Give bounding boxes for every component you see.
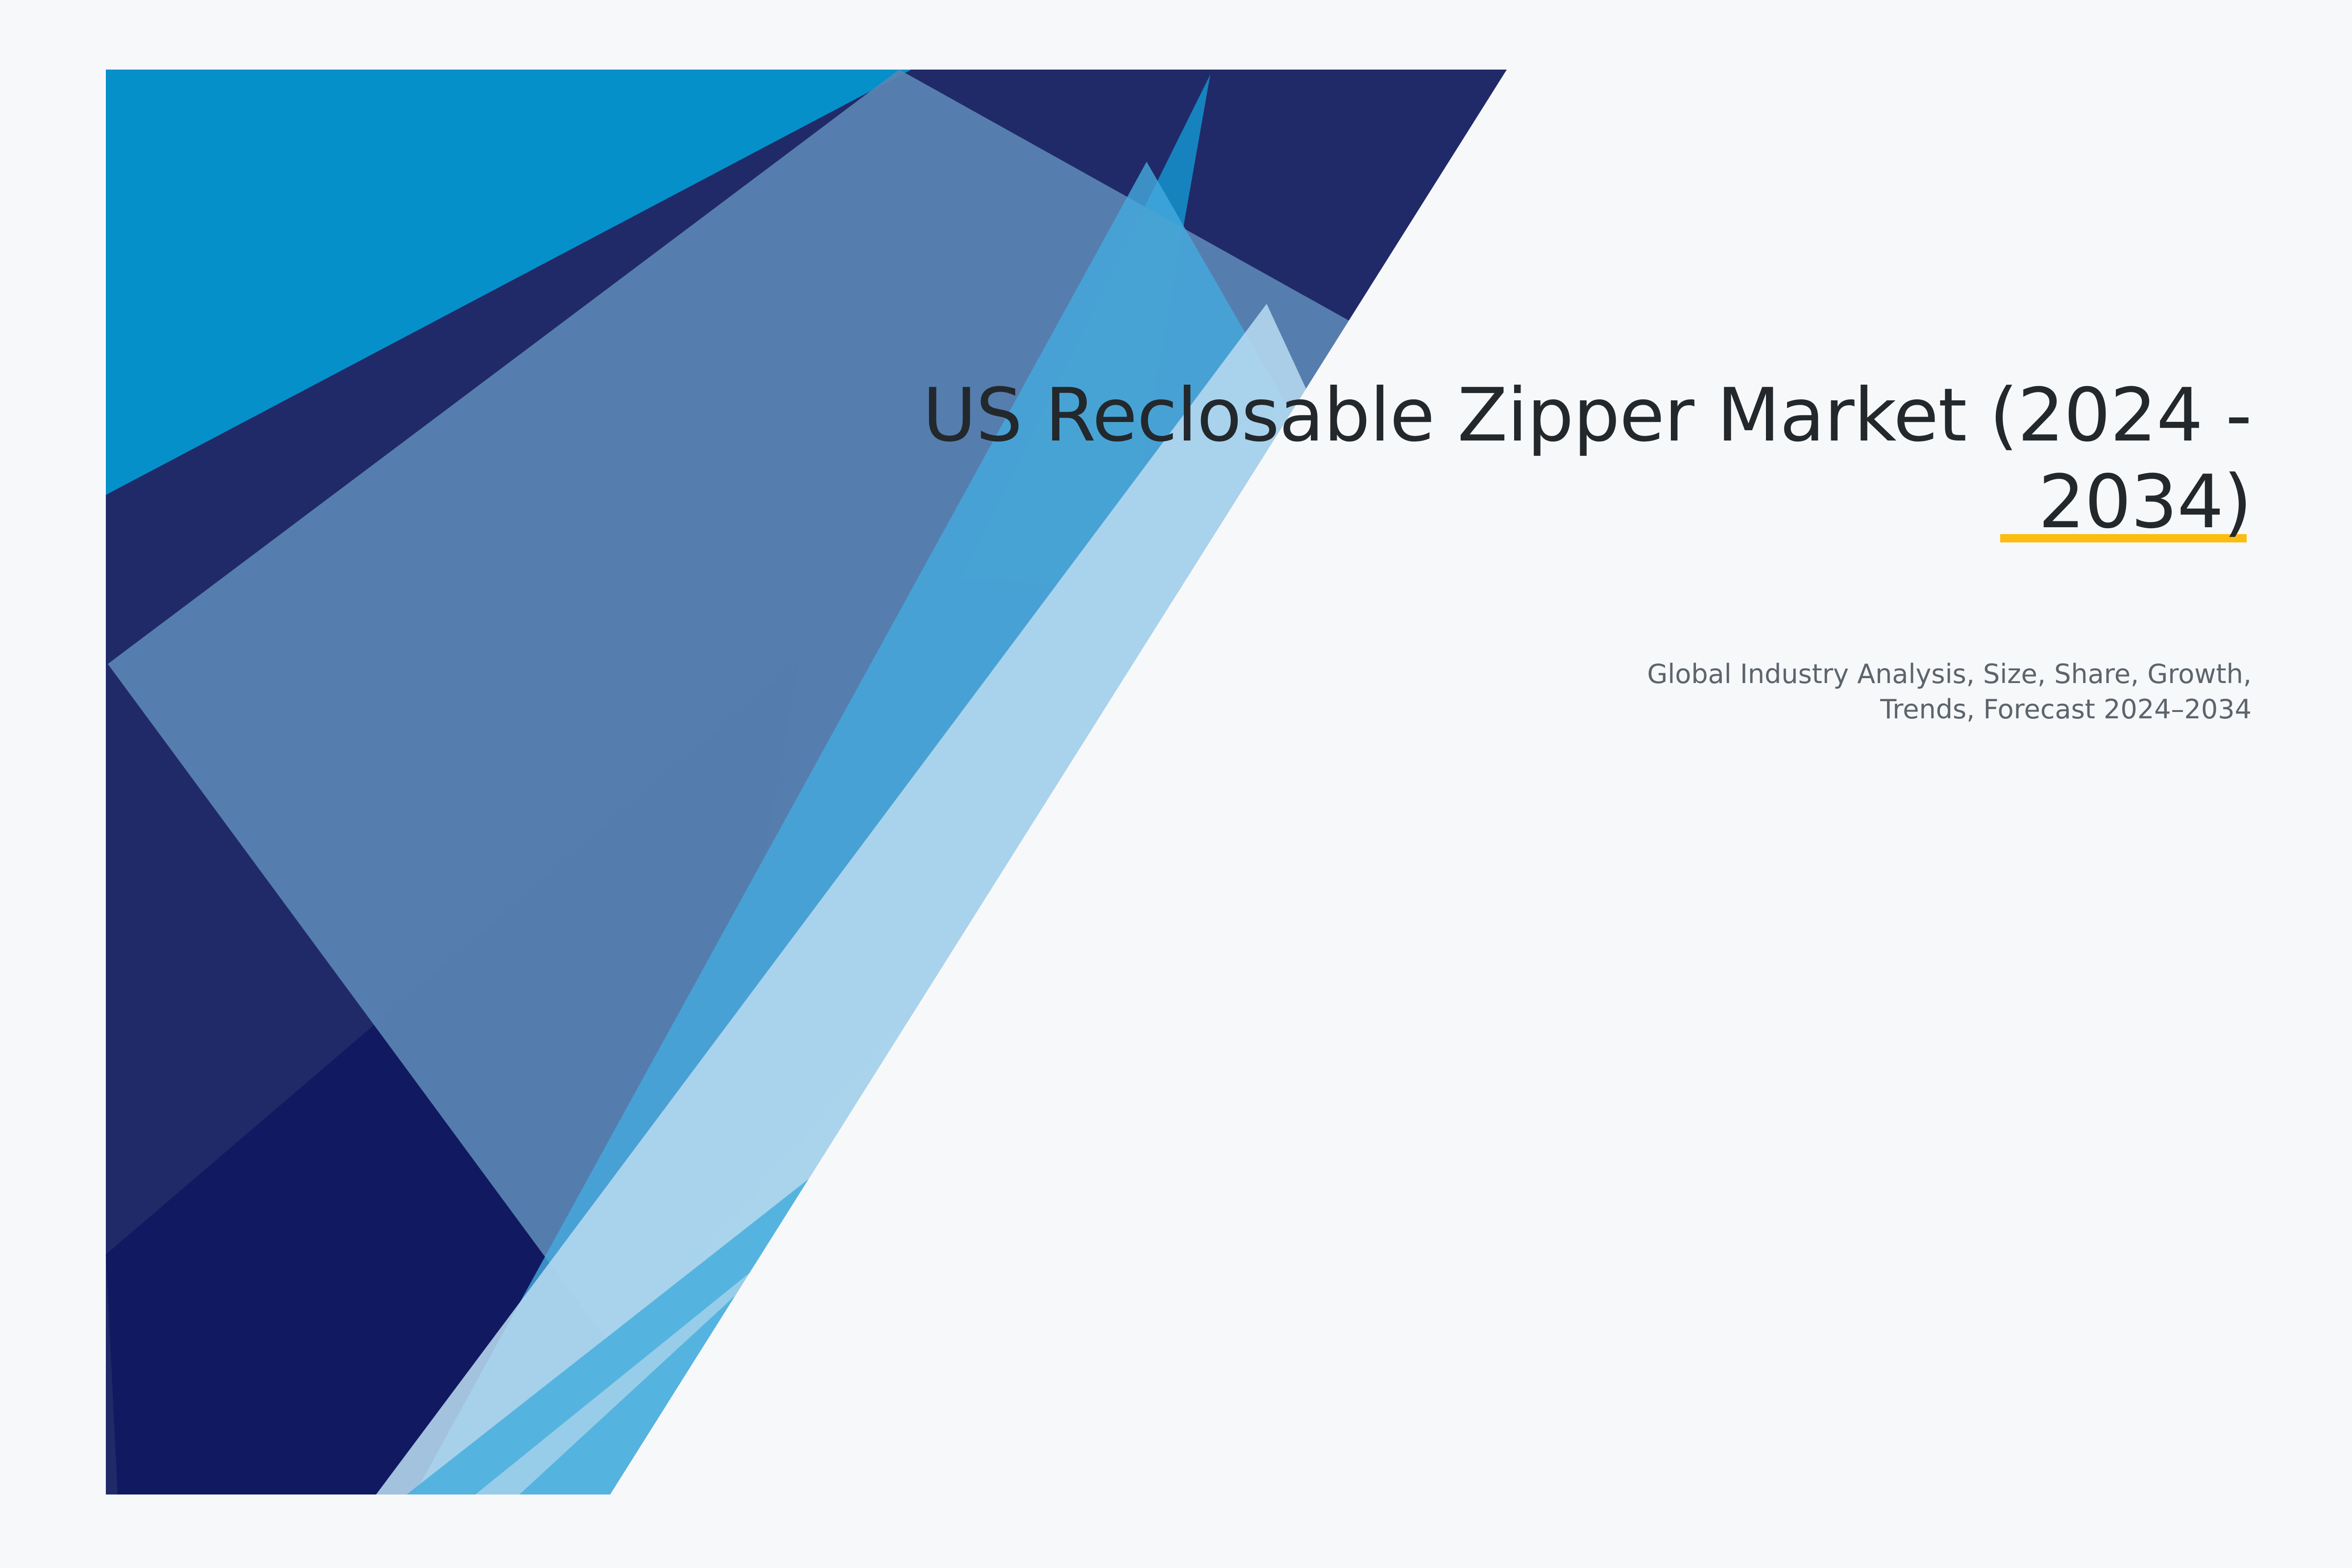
page-subtitle: Global Industry Analysis, Size, Share, G… (1556, 657, 2252, 728)
page-title: US Reclosable Zipper Market (2024 - 2034… (733, 372, 2252, 546)
shape-bottom-pale-notch (475, 1205, 833, 1494)
shape-steel-blue-quad (108, 70, 1389, 1494)
abstract-geometric-cover-graphic (0, 0, 2352, 1568)
shape-deep-navy-base (106, 661, 799, 1494)
cover-title-block: US Reclosable Zipper Market (2024 - 2034… (733, 372, 2252, 546)
shape-light-blue-accent (490, 578, 1423, 1499)
cover-page: US Reclosable Zipper Market (2024 - 2034… (0, 0, 2352, 1568)
shape-deep-navy-chevron (211, 661, 799, 1494)
shape-navy-wedge (106, 70, 1507, 1494)
shape-sky-blue-band (412, 162, 1423, 1499)
shape-bottom-cyan-strip (407, 1137, 862, 1494)
shape-cyan-field (106, 70, 1507, 1494)
